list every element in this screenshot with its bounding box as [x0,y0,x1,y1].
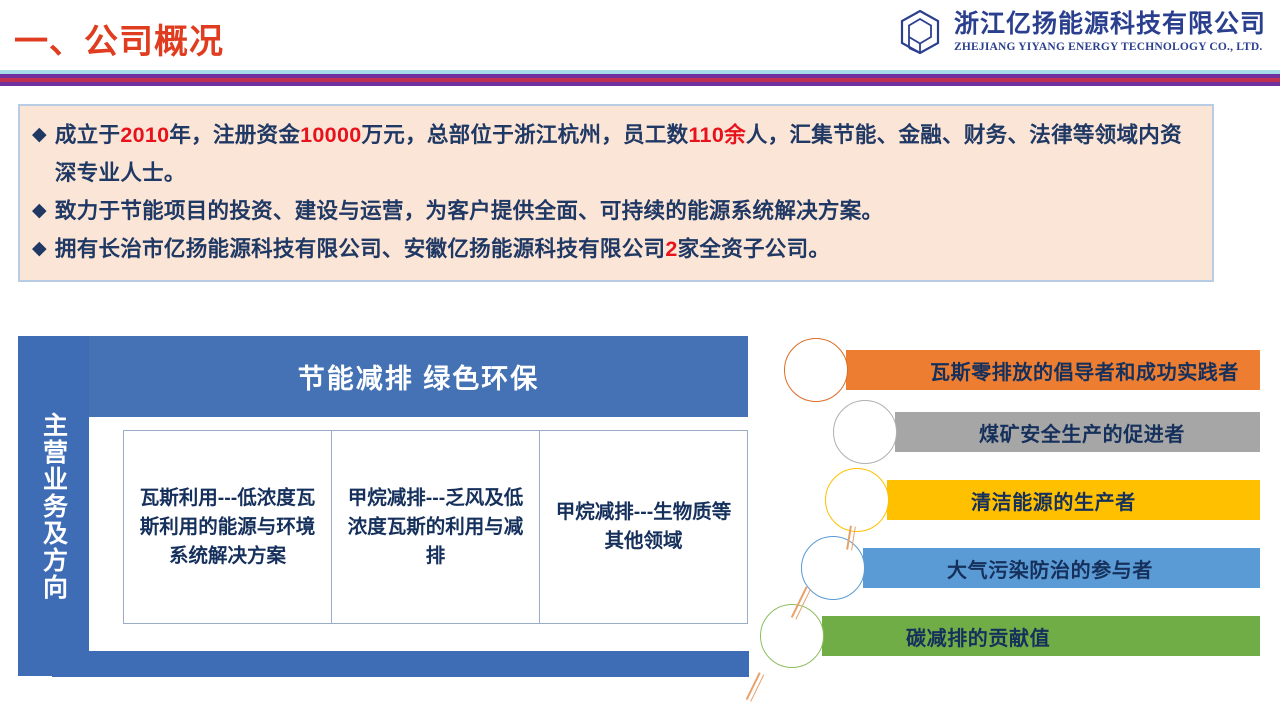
highlighted-value: 10000 [300,123,361,147]
role-bar-0: 瓦斯零排放的倡导者和成功实践者 [846,350,1260,390]
bullet-diamond-icon: ◆ [32,230,47,268]
role-circle-icon-3 [801,536,865,600]
business-table-footer-bar [52,651,749,677]
company-logo: 浙江亿扬能源科技有限公司 ZHEJIANG YIYANG ENERGY TECH… [898,8,1266,56]
logo-company-name-en: ZHEJIANG YIYANG ENERGY TECHNOLOGY CO., L… [954,41,1263,53]
overview-bullet-2: ◆ 拥有长治市亿扬能源科技有限公司、安徽亿扬能源科技有限公司2家全资子公司。 [32,230,1198,268]
bullet-diamond-icon: ◆ [32,116,47,154]
business-table: 节能减排 绿色环保 瓦斯利用---低浓度瓦斯利用的能源与环境系统解决方案 甲烷减… [89,336,748,676]
role-bar-1: 煤矿安全生产的促进者 [895,412,1260,452]
highlighted-value: 2 [665,237,677,261]
business-cell-1: 甲烷减排---乏风及低浓度瓦斯的利用与减排 [332,431,540,623]
logo-company-name-cn: 浙江亿扬能源科技有限公司 [954,11,1266,37]
overview-bullet-text-1: 致力于节能项目的投资、建设与运营，为客户提供全面、可持续的能源系统解决方案。 [55,192,1198,230]
main-business-section: 主营业务及方向 节能减排 绿色环保 瓦斯利用---低浓度瓦斯利用的能源与环境系统… [18,336,748,676]
main-business-side-label-text: 主营业务及方向 [40,412,68,601]
business-cell-2: 甲烷减排---生物质等其他领域 [540,431,747,623]
hexagon-cube-logo-icon [898,8,942,56]
main-business-side-label: 主营业务及方向 [18,336,89,676]
highlighted-value: 2010 [120,123,169,147]
role-bar-4: 碳减排的贡献值 [822,616,1260,656]
business-table-header: 节能减排 绿色环保 [89,336,748,417]
business-table-row: 瓦斯利用---低浓度瓦斯利用的能源与环境系统解决方案 甲烷减排---乏风及低浓度… [123,430,748,624]
company-roles-list: 瓦斯零排放的倡导者和成功实践者 煤矿安全生产的促进者 清洁能源的生产者 大气污染… [760,336,1260,686]
overview-text-segment: 拥有长治市亿扬能源科技有限公司、安徽亿扬能源科技有限公司 [55,237,665,261]
overview-text-segment: 家全资子公司。 [678,237,831,261]
role-item-1: 煤矿安全生产的促进者 [833,412,1260,452]
bullet-diamond-icon: ◆ [32,192,47,230]
divider-line-purple-bottom [0,82,1280,86]
overview-text-segment: 万元，总部位于浙江杭州，员工数 [361,123,688,147]
overview-bullet-text-2: 拥有长治市亿扬能源科技有限公司、安徽亿扬能源科技有限公司2家全资子公司。 [55,230,1198,268]
overview-text-segment: 致力于节能项目的投资、建设与运营，为客户提供全面、可持续的能源系统解决方案。 [55,199,883,223]
page-title: 一、公司概况 [14,14,224,63]
highlighted-value: 110余 [688,123,745,147]
role-circle-icon-1 [833,400,897,464]
role-item-2: 清洁能源的生产者 [825,480,1260,520]
company-overview-box: ◆ 成立于2010年，注册资金10000万元，总部位于浙江杭州，员工数110余人… [18,104,1214,282]
role-circle-icon-0 [784,338,848,402]
role-item-0: 瓦斯零排放的倡导者和成功实践者 [784,350,1260,390]
overview-text-segment: 成立于 [55,123,120,147]
overview-text-segment: 年，注册资金 [169,123,300,147]
overview-bullet-1: ◆ 致力于节能项目的投资、建设与运营，为客户提供全面、可持续的能源系统解决方案。 [32,192,1198,230]
role-bar-2: 清洁能源的生产者 [887,480,1260,520]
overview-bullet-0: ◆ 成立于2010年，注册资金10000万元，总部位于浙江杭州，员工数110余人… [32,116,1198,192]
role-circle-icon-2 [825,468,889,532]
role-bar-3: 大气污染防治的参与者 [863,548,1260,588]
logo-text-group: 浙江亿扬能源科技有限公司 ZHEJIANG YIYANG ENERGY TECH… [954,11,1266,52]
role-item-4: 碳减排的贡献值 [760,616,1260,656]
business-cell-0: 瓦斯利用---低浓度瓦斯利用的能源与环境系统解决方案 [124,431,332,623]
role-item-3: 大气污染防治的参与者 [801,548,1260,588]
overview-bullet-text-0: 成立于2010年，注册资金10000万元，总部位于浙江杭州，员工数110余人，汇… [55,116,1198,192]
